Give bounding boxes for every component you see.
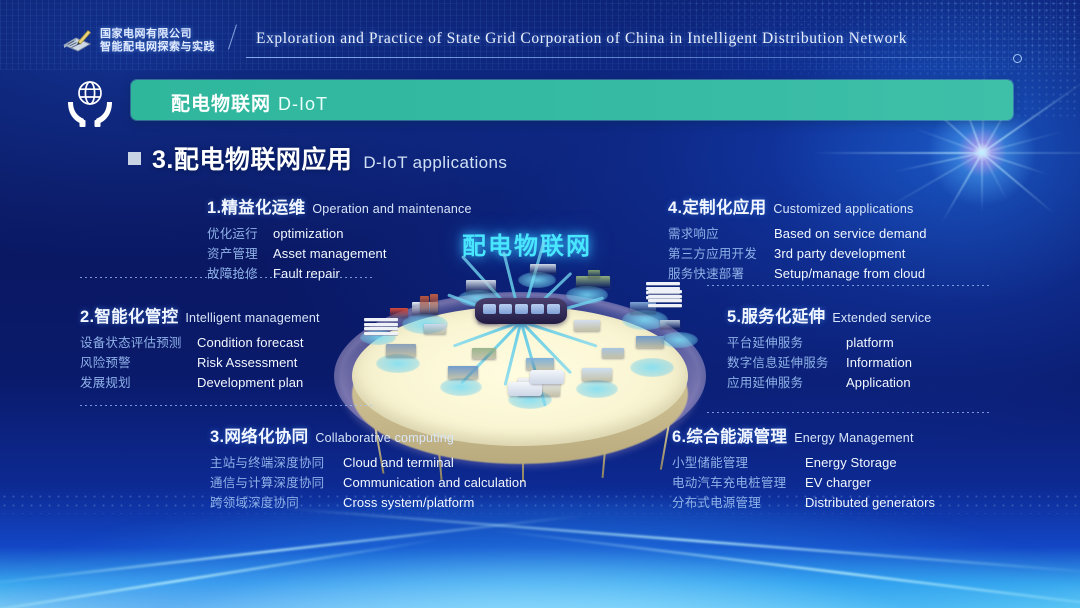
list-item: 平台延伸服务platform [727,332,931,351]
block-title-cn: 3.网络化协同 [210,423,308,447]
block-title-cn: 2.智能化管控 [80,303,178,327]
section-banner: 配电物联网D-IoT [131,80,1013,120]
network-node-pad [440,378,482,396]
list-item: 发展规划Development plan [80,372,320,391]
list-item: 设备状态评估预测Condition forecast [80,332,320,351]
globe-in-hands-icon [62,76,118,128]
list-item: 分布式电源管理Distributed generators [672,492,935,511]
platform-equipment-node [574,320,600,331]
block-rows: 优化运行optimization 资产管理Asset management 故障… [207,223,472,282]
platform-equipment-node [430,294,438,314]
brand-lockup: 国家电网有限公司 智能配电网探索与实践 [62,28,215,54]
square-bullet-icon [128,152,141,165]
platform-equipment-node [588,270,600,278]
header-underline [246,57,1018,58]
network-node-pad [566,286,608,304]
platform-equipment-node [660,320,680,329]
list-item: 需求响应Based on service demand [668,223,927,242]
list-item: 第三方应用开发3rd party development [668,243,927,262]
section-title: 3.配电物联网应用 D-IoT applications [128,140,507,176]
block-title-cn: 1.精益化运维 [207,194,305,218]
block-rows: 设备状态评估预测Condition forecast 风险预警Risk Asse… [80,332,320,391]
slide-header: 国家电网有限公司 智能配电网探索与实践 Exploration and Prac… [0,0,1080,64]
list-item: 服务快速部署Setup/manage from cloud [668,263,927,282]
platform-equipment-node [582,368,612,381]
slide-root: 国家电网有限公司 智能配电网探索与实践 Exploration and Prac… [0,0,1080,608]
block-title-cn: 5.服务化延伸 [727,303,825,327]
content-block-3[interactable]: 3.网络化协同 Collaborative computing 主站与终端深度协… [210,423,527,511]
block-rows: 小型储能管理Energy Storage 电动汽车充电桩管理EV charger… [672,452,935,511]
network-node-pad [576,380,618,398]
content-block-1[interactable]: 1.精益化运维 Operation and maintenance 优化运行op… [207,194,472,282]
block-separator [80,405,375,406]
block-title-en: Extended service [832,311,931,325]
platform-equipment-node [530,264,556,274]
brand-line-1: 国家电网有限公司 [100,28,215,41]
block-rows: 主站与终端深度协同Cloud and terminal 通信与计算深度协同Com… [210,452,527,511]
block-heading: 6.综合能源管理 Energy Management [672,423,935,447]
document-stack-icon [648,290,682,308]
block-rows: 平台延伸服务platform 数字信息延伸服务Information 应用延伸服… [727,332,931,391]
block-separator [707,412,992,413]
list-item: 资产管理Asset management [207,243,472,262]
network-node-pad [518,272,556,288]
network-node-pad [630,358,674,377]
block-separator [80,277,375,278]
platform-equipment-node [602,348,624,358]
block-separator [707,285,992,286]
list-item: 风险预警Risk Assessment [80,352,320,371]
platform-equipment-node [386,344,416,357]
block-heading: 5.服务化延伸 Extended service [727,303,931,327]
block-heading: 4.定制化应用 Customized applications [668,194,927,218]
content-block-6[interactable]: 6.综合能源管理 Energy Management 小型储能管理Energy … [672,423,935,511]
burst-ray [812,152,982,154]
block-title-en: Customized applications [773,202,913,216]
content-block-5[interactable]: 5.服务化延伸 Extended service 平台延伸服务platform … [727,303,931,391]
list-item: 数字信息延伸服务Information [727,352,931,371]
block-heading: 1.精益化运维 Operation and maintenance [207,194,472,218]
list-item: 主站与终端深度协同Cloud and terminal [210,452,527,471]
platform-equipment-node [424,324,446,334]
block-heading: 3.网络化协同 Collaborative computing [210,423,527,447]
list-item: 电动汽车充电桩管理EV charger [672,472,935,491]
network-node-pad [660,332,698,348]
banner-title-en: D-IoT [278,94,328,114]
header-divider [228,24,237,49]
brand-line-2: 智能配电网探索与实践 [100,41,215,54]
cloud-server-node [530,370,564,384]
block-title-cn: 4.定制化应用 [668,194,766,218]
list-item: 优化运行optimization [207,223,472,242]
list-item: 应用延伸服务Application [727,372,931,391]
content-block-4[interactable]: 4.定制化应用 Customized applications 需求响应Base… [668,194,927,282]
burst-ray [981,153,983,213]
document-stack-icon [364,318,398,336]
platform-equipment-node [526,358,554,370]
list-item: 通信与计算深度协同Communication and calculation [210,472,527,491]
block-title-cn: 6.综合能源管理 [672,423,787,447]
brand-text: 国家电网有限公司 智能配电网探索与实践 [100,28,215,54]
platform-equipment-node [420,296,429,314]
block-title-en: Operation and maintenance [312,202,471,216]
list-item: 小型储能管理Energy Storage [672,452,935,471]
content-block-2[interactable]: 2.智能化管控 Intelligent management 设备状态评估预测C… [80,303,320,391]
section-title-cn: 3.配电物联网应用 [152,140,352,176]
block-rows: 需求响应Based on service demand 第三方应用开发3rd p… [668,223,927,282]
header-title: Exploration and Practice of State Grid C… [256,30,907,48]
list-item: 跨领域深度协同Cross system/platform [210,492,527,511]
block-title-en: Intelligent management [185,311,319,325]
burst-ray [982,152,1080,154]
network-link [453,320,522,347]
platform-equipment-node [390,308,408,318]
platform-equipment-node [472,348,496,359]
block-heading: 2.智能化管控 Intelligent management [80,303,320,327]
central-hub-node [475,298,567,324]
block-title-en: Collaborative computing [315,431,454,445]
center-title: 配电物联网 [462,226,592,261]
banner-title: 配电物联网D-IoT [171,89,328,116]
cloud-server-node [508,382,542,396]
platform-equipment-node [636,336,664,348]
notebook-pen-icon [62,29,92,53]
platform-equipment-node [448,366,478,379]
block-title-en: Energy Management [794,431,913,445]
section-title-en: D-IoT applications [363,153,507,173]
banner-title-cn: 配电物联网 [171,94,271,115]
list-item: 故障抢修Fault repair [207,263,472,282]
